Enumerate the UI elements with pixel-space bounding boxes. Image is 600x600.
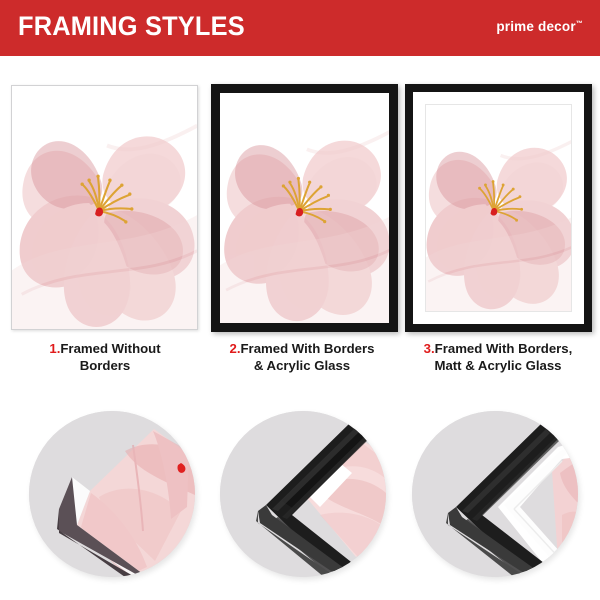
artwork-canvas-2 — [220, 93, 389, 323]
canvas-edge-closeup — [29, 411, 195, 577]
captions-row: 1.Framed Without Borders 2.Framed With B… — [0, 341, 600, 393]
detail-circles-row — [0, 404, 600, 600]
frames-row — [0, 56, 600, 341]
artwork-canvas-1 — [12, 86, 197, 329]
flower-artwork — [426, 105, 571, 311]
frame-preview-with-borders-and-matt[interactable] — [405, 84, 592, 332]
artwork-canvas-3 — [426, 105, 571, 311]
detail-circle-with-borders-and-matt[interactable] — [412, 411, 578, 577]
caption-line1-2: Framed With Borders — [241, 341, 375, 356]
caption-line2-3: Matt & Acrylic Glass — [434, 358, 561, 373]
page-title: FRAMING STYLES — [18, 11, 245, 42]
frame-matt-corner-closeup — [412, 411, 578, 577]
caption-option-2: 2.Framed With Borders & Acrylic Glass — [202, 341, 402, 374]
frame-preview-borderless[interactable] — [11, 85, 198, 330]
caption-line2-2: & Acrylic Glass — [254, 358, 350, 373]
detail-circle-with-borders[interactable] — [220, 411, 386, 577]
magnolia-illustration — [220, 93, 389, 323]
brand-logo: prime decor™ — [496, 19, 583, 34]
frame-corner-closeup — [220, 411, 386, 577]
caption-number-2: 2. — [230, 341, 241, 356]
detail-circle-borderless[interactable] — [29, 411, 195, 577]
trademark-icon: ™ — [576, 21, 583, 28]
matt-board — [413, 92, 584, 324]
caption-option-1: 1.Framed Without Borders — [5, 341, 205, 374]
caption-number-1: 1. — [49, 341, 60, 356]
header-banner: FRAMING STYLES prime decor™ — [0, 0, 600, 56]
caption-line2-1: Borders — [80, 358, 131, 373]
caption-line1-1: Framed Without — [60, 341, 160, 356]
frame-preview-with-borders[interactable] — [211, 84, 398, 332]
brand-logo-text: prime decor — [496, 19, 575, 34]
caption-line1-3: Framed With Borders, — [435, 341, 573, 356]
caption-option-3: 3.Framed With Borders, Matt & Acrylic Gl… — [398, 341, 598, 374]
magnolia-illustration — [426, 105, 571, 311]
flower-artwork — [12, 86, 197, 329]
flower-artwork — [220, 93, 389, 323]
caption-number-3: 3. — [424, 341, 435, 356]
magnolia-illustration — [12, 86, 197, 329]
